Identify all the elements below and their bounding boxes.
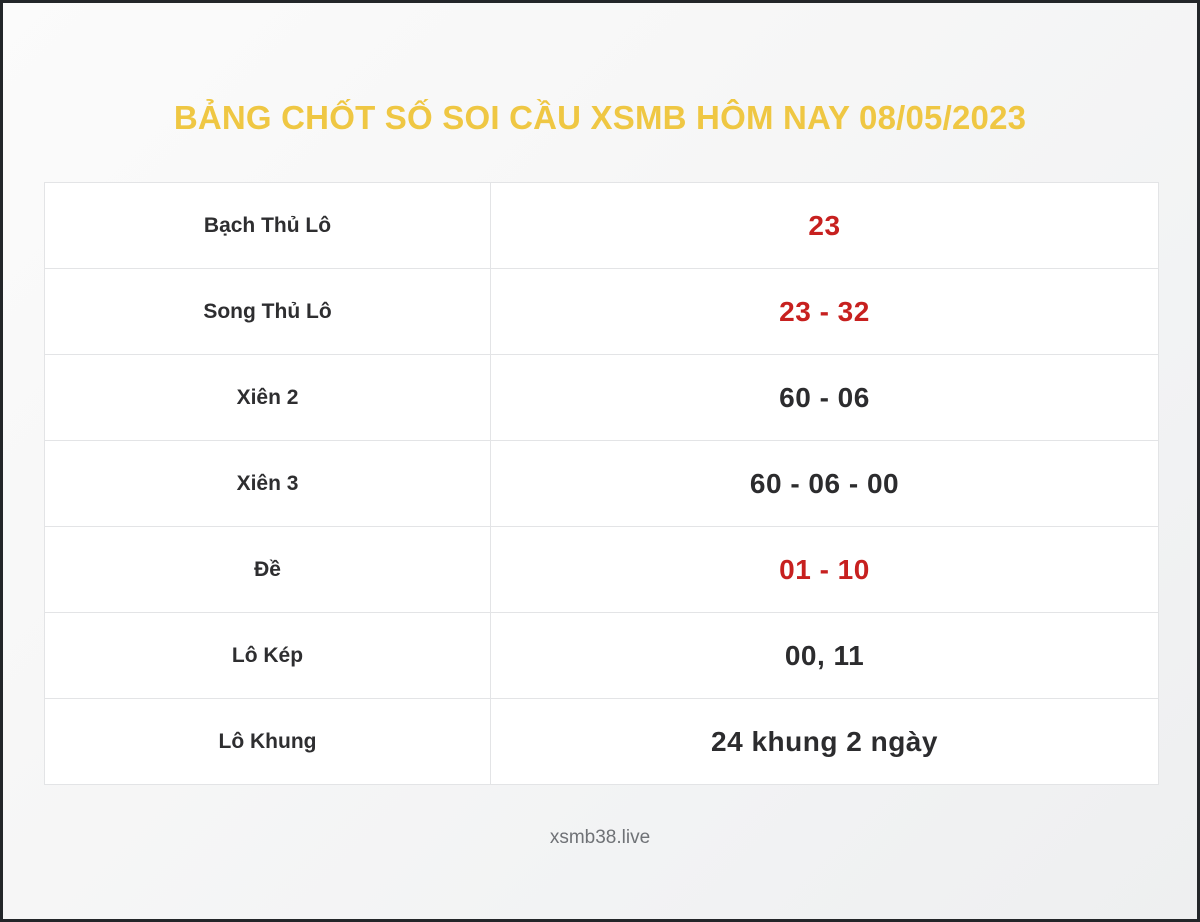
table-row: Xiên 2 60 - 06 bbox=[45, 355, 1159, 441]
prediction-table: Bạch Thủ Lô 23 Song Thủ Lô 23 - 32 Xiên … bbox=[44, 182, 1159, 785]
site-watermark: xsmb38.live bbox=[3, 827, 1197, 849]
row-label-xien-3: Xiên 3 bbox=[45, 441, 491, 527]
row-label-song-thu-lo: Song Thủ Lô bbox=[45, 269, 491, 355]
row-label-lo-khung: Lô Khung bbox=[45, 699, 491, 785]
table-row: Song Thủ Lô 23 - 32 bbox=[45, 269, 1159, 355]
table-row: Đề 01 - 10 bbox=[45, 527, 1159, 613]
row-value-lo-khung: 24 khung 2 ngày bbox=[491, 699, 1159, 785]
row-label-bach-thu-lo: Bạch Thủ Lô bbox=[45, 183, 491, 269]
row-label-xien-2: Xiên 2 bbox=[45, 355, 491, 441]
prediction-table-body: Bạch Thủ Lô 23 Song Thủ Lô 23 - 32 Xiên … bbox=[45, 183, 1159, 785]
row-value-de: 01 - 10 bbox=[491, 527, 1159, 613]
table-row: Xiên 3 60 - 06 - 00 bbox=[45, 441, 1159, 527]
row-value-xien-2: 60 - 06 bbox=[491, 355, 1159, 441]
table-row: Lô Kép 00, 11 bbox=[45, 613, 1159, 699]
row-value-lo-kep: 00, 11 bbox=[491, 613, 1159, 699]
row-value-xien-3: 60 - 06 - 00 bbox=[491, 441, 1159, 527]
table-row: Bạch Thủ Lô 23 bbox=[45, 183, 1159, 269]
row-value-song-thu-lo: 23 - 32 bbox=[491, 269, 1159, 355]
page-container: BẢNG CHỐT SỐ SOI CẦU XSMB HÔM NAY 08/05/… bbox=[3, 3, 1197, 919]
row-value-bach-thu-lo: 23 bbox=[491, 183, 1159, 269]
page-title: BẢNG CHỐT SỐ SOI CẦU XSMB HÔM NAY 08/05/… bbox=[3, 99, 1197, 137]
table-row: Lô Khung 24 khung 2 ngày bbox=[45, 699, 1159, 785]
row-label-de: Đề bbox=[45, 527, 491, 613]
row-label-lo-kep: Lô Kép bbox=[45, 613, 491, 699]
